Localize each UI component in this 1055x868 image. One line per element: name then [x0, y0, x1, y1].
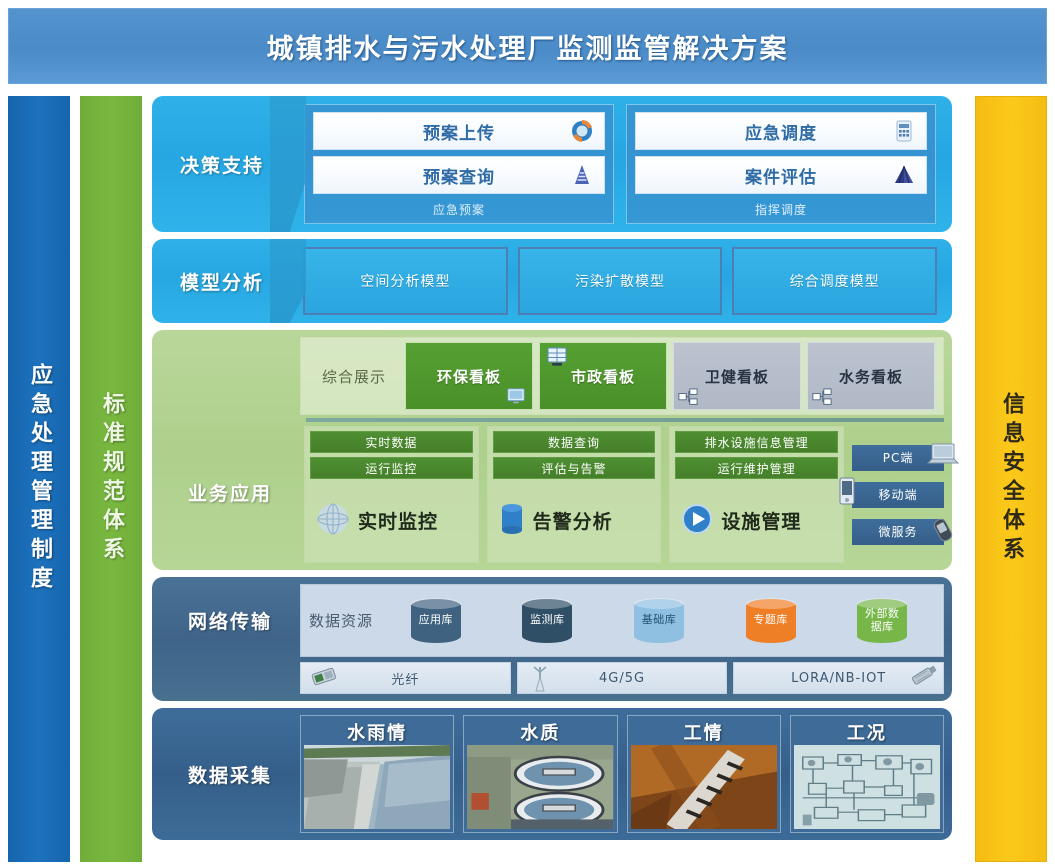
button-operation-maintenance[interactable]: 运行维护管理 [675, 457, 838, 479]
play-circle-icon [679, 501, 715, 541]
sedimentation-tanks-photo [467, 745, 613, 829]
kanban-health[interactable]: 卫健看板 [673, 342, 801, 410]
feature-realtime-monitoring[interactable]: 实时监控 [310, 483, 473, 558]
pillar-standard-system: 标准规范体系 [80, 96, 142, 862]
layer-business-label: 业务应用 [160, 422, 300, 563]
data-card-operating-status-title: 工况 [794, 719, 940, 745]
nodes-icon [678, 388, 698, 406]
business-column-facility: 排水设施信息管理 运行维护管理 设施管理 [669, 426, 844, 563]
kanban-water-affairs[interactable]: 水务看板 [807, 342, 935, 410]
buried-pipeline-photo [631, 745, 777, 829]
model-box-dispatch[interactable]: 综合调度模型 [732, 247, 937, 315]
layer-decision-label: 决策支持 [152, 96, 292, 232]
decision-group-command-dispatch: 应急调度 案件评估 [626, 104, 936, 224]
database-monitoring[interactable]: 监测库 [495, 599, 601, 643]
database-external[interactable]: 外部数据库 [829, 599, 935, 643]
feature-facility-management[interactable]: 设施管理 [675, 483, 838, 558]
transport-lora-label: LORA/NB-IOT [791, 671, 886, 686]
kanban-environment-label: 环保看板 [437, 366, 501, 387]
decision-group-command-dispatch-caption: 指挥调度 [635, 200, 927, 221]
data-card-water-rain[interactable]: 水雨情 [300, 715, 454, 833]
transport-fiber-label: 光纤 [391, 669, 419, 688]
refresh-globe-icon [569, 118, 595, 144]
database-application-label: 应用库 [419, 614, 454, 626]
device-mobile-label: 移动端 [879, 486, 918, 503]
feature-realtime-monitoring-label: 实时监控 [358, 507, 438, 534]
decision-group-emergency-plan: 预案上传 预案查询 [304, 104, 614, 224]
database-application[interactable]: 应用库 [383, 599, 489, 643]
layer-decision-support: 决策支持 预案上传 预案查询 [152, 96, 952, 232]
antenna-icon [530, 663, 550, 693]
device-pc-label: PC端 [883, 449, 914, 466]
transport-cellular-label: 4G/5G [599, 671, 645, 686]
database-thematic-label: 专题库 [753, 614, 788, 626]
kanban-health-label: 卫健看板 [705, 366, 769, 387]
page-title: 城镇排水与污水处理厂监测监管解决方案 [267, 27, 789, 66]
kanban-municipal[interactable]: 市政看板 [539, 342, 667, 410]
data-resource-panel: 数据资源 应用库 监测库 基础库 [300, 584, 944, 657]
pillar-emergency-management: 应急处理管理制度 [8, 96, 70, 862]
page-title-bar: 城镇排水与污水处理厂监测监管解决方案 [8, 8, 1047, 84]
globe-icon [314, 500, 352, 542]
feature-facility-management-label: 设施管理 [721, 507, 801, 534]
process-schematic-photo [794, 745, 940, 829]
pillar-information-security: 信息安全体系 [975, 96, 1047, 862]
kanban-municipal-label: 市政看板 [571, 366, 635, 387]
button-realtime-data[interactable]: 实时数据 [310, 431, 473, 453]
device-endpoints: PC端 移动端 [848, 426, 944, 563]
database-external-label: 外部数据库 [860, 608, 904, 632]
database-monitoring-label: 监测库 [530, 614, 565, 626]
button-case-assessment[interactable]: 案件评估 [635, 156, 927, 194]
button-assessment-alarm[interactable]: 评估与告警 [493, 457, 656, 479]
business-column-query: 数据查询 评估与告警 告警分析 [487, 426, 662, 563]
button-emergency-dispatch[interactable]: 应急调度 [635, 112, 927, 150]
model-box-spatial[interactable]: 空间分析模型 [303, 247, 508, 315]
button-emergency-dispatch-label: 应急调度 [745, 119, 817, 144]
feature-alarm-analysis-label: 告警分析 [533, 507, 613, 534]
nodes-icon [812, 388, 832, 406]
layer-model-analysis: 模型分析 空间分析模型 污染扩散模型 综合调度模型 [152, 239, 952, 323]
database-basic[interactable]: 基础库 [606, 599, 712, 643]
transport-cellular[interactable]: 4G/5G [517, 662, 728, 694]
calculator-icon [891, 118, 917, 144]
window-icon [545, 346, 569, 368]
button-operation-monitoring[interactable]: 运行监控 [310, 457, 473, 479]
comprehensive-display-label: 综合展示 [306, 342, 402, 410]
data-card-water-quality[interactable]: 水质 [463, 715, 617, 833]
comprehensive-display-row: 综合展示 环保看板 市政看板 [160, 337, 944, 415]
transport-fiber[interactable]: 光纤 [300, 662, 511, 694]
button-plan-upload[interactable]: 预案上传 [313, 112, 605, 150]
device-microservice-label: 微服务 [879, 523, 918, 540]
monitor-icon [506, 387, 526, 405]
layer-data-collection: 数据采集 水雨情 [152, 708, 952, 840]
button-plan-query[interactable]: 预案查询 [313, 156, 605, 194]
data-card-works-condition[interactable]: 工情 [627, 715, 781, 833]
layer-network-label: 网络传输 [160, 584, 300, 657]
layer-data-collection-label: 数据采集 [160, 715, 300, 833]
mobile-icon [836, 476, 858, 506]
data-card-works-condition-title: 工情 [631, 719, 777, 745]
database-thematic[interactable]: 专题库 [718, 599, 824, 643]
data-card-water-rain-title: 水雨情 [304, 719, 450, 745]
device-microservice[interactable]: 微服务 [852, 519, 944, 545]
data-resource-label: 数据资源 [309, 610, 373, 631]
data-card-water-quality-title: 水质 [467, 719, 613, 745]
data-card-operating-status[interactable]: 工况 [790, 715, 944, 833]
fiber-icon [309, 666, 339, 688]
business-column-monitoring: 实时数据 运行监控 实时监控 [304, 426, 479, 563]
layer-model-label: 模型分析 [152, 239, 292, 323]
pyramid-icon [569, 162, 595, 188]
laptop-icon [926, 441, 960, 469]
button-case-assessment-label: 案件评估 [745, 163, 817, 188]
button-data-query[interactable]: 数据查询 [493, 431, 656, 453]
button-plan-query-label: 预案查询 [423, 163, 495, 188]
kanban-environment[interactable]: 环保看板 [405, 342, 533, 410]
layer-network-transmission: 网络传输 数据资源 应用库 监测库 [152, 577, 952, 701]
device-mobile[interactable]: 移动端 [852, 482, 944, 508]
layer-business-application: 综合展示 环保看板 市政看板 [152, 330, 952, 570]
database-icon [497, 502, 527, 540]
pyramid-dark-icon [891, 162, 917, 188]
phone-icon [928, 517, 958, 543]
model-box-pollution[interactable]: 污染扩散模型 [518, 247, 723, 315]
river-embankment-photo [304, 745, 450, 829]
feature-alarm-analysis[interactable]: 告警分析 [493, 483, 656, 558]
transport-lora[interactable]: LORA/NB-IOT [733, 662, 944, 694]
decision-group-emergency-plan-caption: 应急预案 [313, 200, 605, 221]
sensor-icon [909, 664, 939, 686]
device-pc[interactable]: PC端 [852, 445, 944, 471]
database-basic-label: 基础库 [642, 614, 677, 626]
kanban-water-affairs-label: 水务看板 [839, 366, 903, 387]
button-drainage-facility-info[interactable]: 排水设施信息管理 [675, 431, 838, 453]
button-plan-upload-label: 预案上传 [423, 119, 495, 144]
architecture-layers: 决策支持 预案上传 预案查询 [152, 96, 952, 862]
